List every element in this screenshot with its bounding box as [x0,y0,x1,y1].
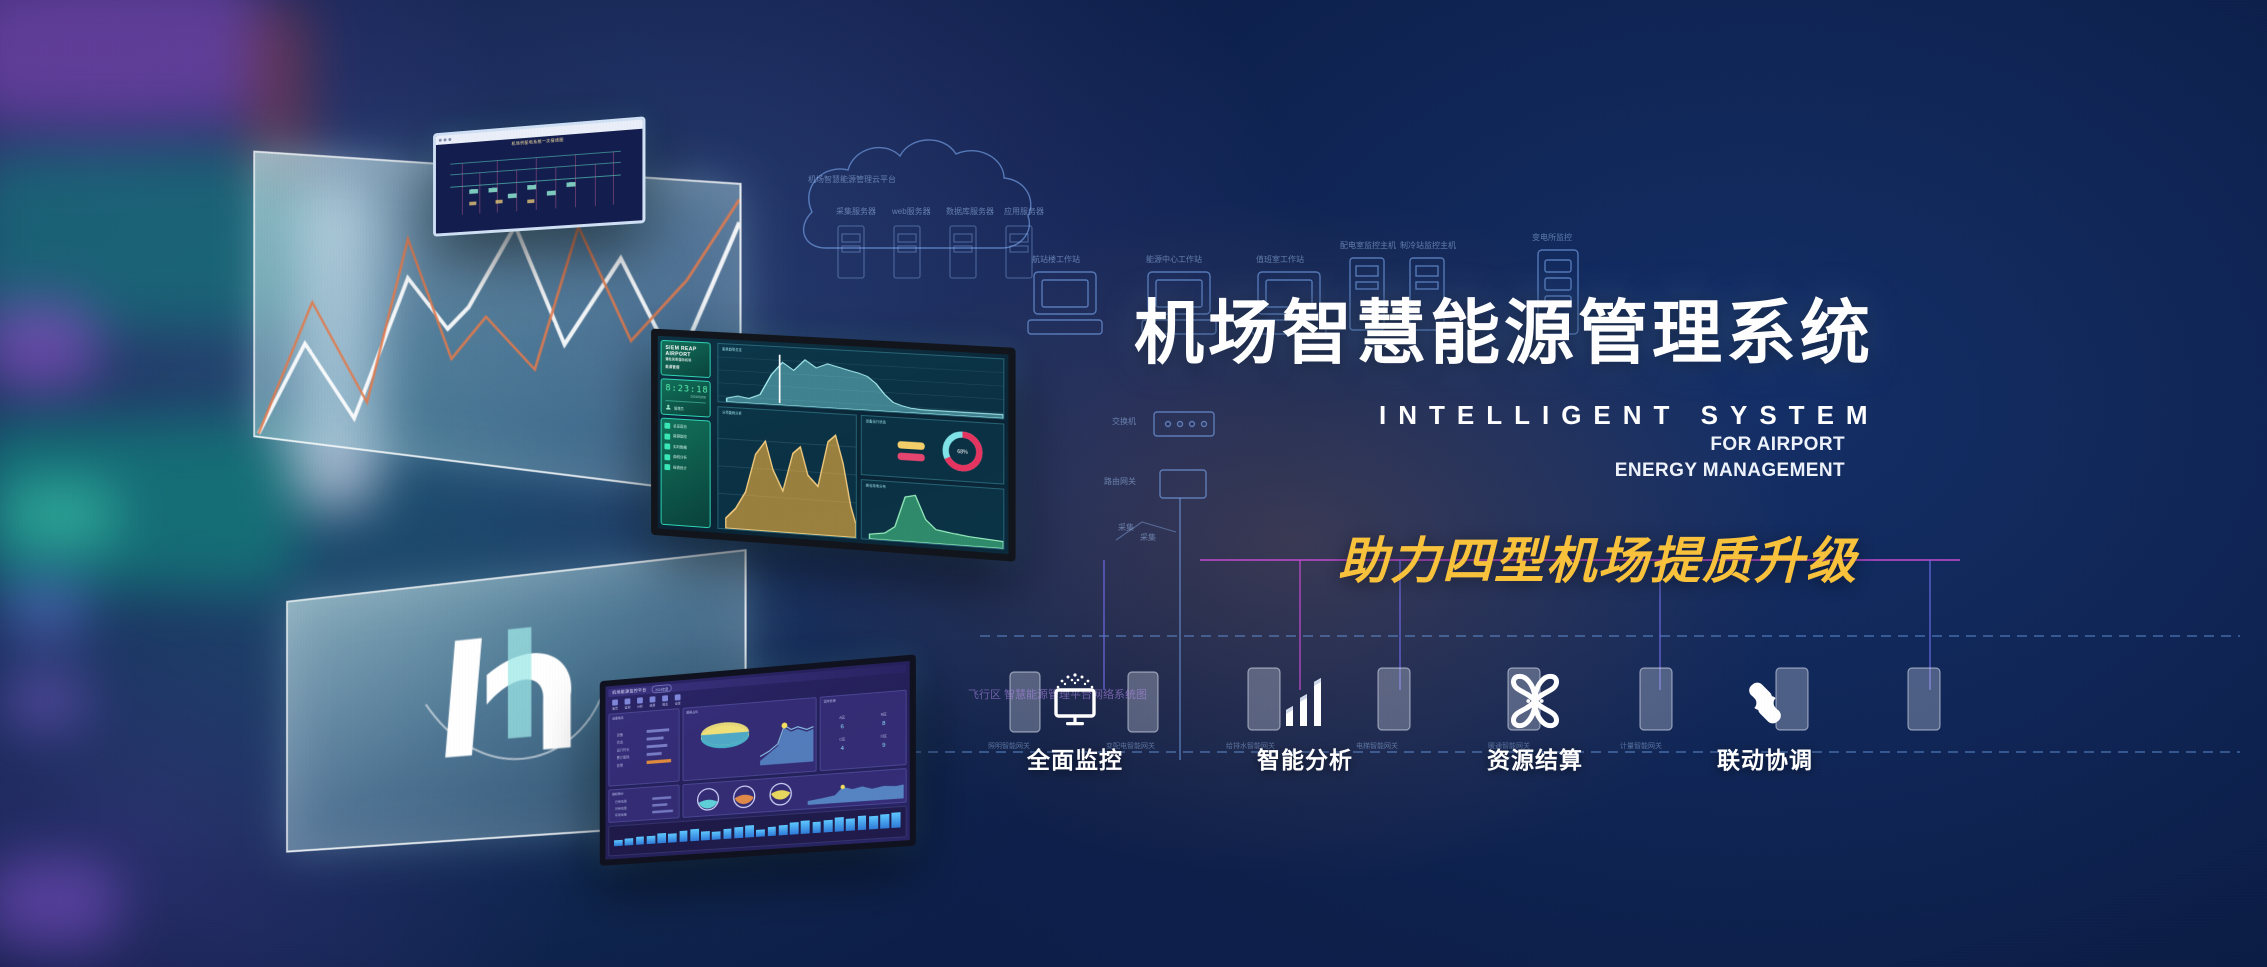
svg-text:采集服务器: 采集服务器 [836,206,876,216]
secondary-dashboard-screen[interactable]: 机场能源监控平台 2024年度 首页 监测 分析 结算 报表 设置 设备信息 设… [600,654,916,866]
svg-text:日用电量: 日用电量 [615,798,627,804]
svg-text:路由网关: 路由网关 [1104,476,1136,486]
chart-icon [664,454,670,460]
svg-text:交换机: 交换机 [1112,416,1136,426]
dashboard-sidebar[interactable]: SIEM REAP AIRPORT 暹粒吴哥国际机场 能源管理 8:23:18 … [658,336,714,533]
svg-text:应用服务器: 应用服务器 [1004,206,1044,216]
ld-card-ratio: 能耗占比 [683,697,817,781]
svg-text:数据库服务器: 数据库服务器 [946,206,994,216]
svg-text:航站楼工作站: 航站楼工作站 [1032,254,1080,264]
area-chart-itemized [718,407,855,538]
feature-item-monitor[interactable]: 全面监控 [960,672,1190,775]
link-diamonds-icon [1735,672,1795,730]
schematic-screen: 机场供配电系统一次接线图 [433,116,645,236]
nav-icon-1 [625,698,631,704]
feature-label-3: 联动协调 [1717,741,1813,775]
svg-text:机场智慧能源管理云平台: 机场智慧能源管理云平台 [808,174,896,184]
dashboard-body: 能耗趋势总览 分项能耗分析 设备运行状态 [714,339,1009,554]
panel-peak-valley: 峰谷用电分布 [861,479,1005,550]
feature-label-2: 资源结算 [1487,741,1583,775]
svg-text:能源中心工作站: 能源中心工作站 [1146,254,1202,264]
airport-logo-card: SIEM REAP AIRPORT 暹粒吴哥国际机场 能源管理 [661,340,711,378]
slogan: 助力四型机场提质升级 [1338,521,1858,593]
svg-text:告警: 告警 [617,762,624,768]
dashboard-menu[interactable]: 总览首页 能源监控 实时数据 曲线分析 报表统计 [661,417,711,528]
ld-nav-0[interactable]: 首页 [612,699,618,710]
feature-item-coordination[interactable]: 联动协调 [1650,672,1880,775]
bar-chart-icon [1276,672,1334,730]
menu-label-1: 能源监控 [673,434,687,440]
menu-item-3[interactable]: 曲线分析 [664,454,706,463]
menu-item-4[interactable]: 报表统计 [664,464,706,473]
feature-label-0: 全面监控 [1027,741,1123,775]
ld-cap-3: 指标统计 [612,791,624,796]
logo-line3: 暹粒吴哥国际机场 [665,357,705,363]
svg-text:4: 4 [841,746,845,752]
svg-text:累计能耗: 累计能耗 [617,754,630,760]
svg-text:8: 8 [882,721,885,727]
nav-icon-5 [675,694,681,700]
svg-text:68%: 68% [957,449,968,456]
nav-icon-0 [612,699,618,705]
ld-nav-2[interactable]: 分析 [637,697,643,708]
menu-item-0[interactable]: 总览首页 [664,423,706,432]
nav-icon-4 [662,695,668,701]
svg-text:B区: B区 [881,712,887,717]
svg-text:9: 9 [882,743,885,749]
user-label: 管理员 [674,405,684,411]
banner-hero: .wf{fill:none;stroke:#7aa8ef;stroke-widt… [0,0,2267,967]
svg-text:月用电量: 月用电量 [615,805,627,811]
svg-text:A区: A区 [839,715,845,720]
logo-sub: 能源管理 [665,365,705,372]
panel-caption-0: 能耗趋势总览 [722,346,742,352]
menu-label-0: 总览首页 [673,424,687,430]
four-petal-icon [1506,672,1564,730]
main-dashboard-screen[interactable]: SIEM REAP AIRPORT 暹粒吴哥国际机场 能源管理 8:23:18 … [651,329,1016,562]
svg-text:变电所监控: 变电所监控 [1532,232,1572,242]
ld-card-device: 设备信息 设备状态运行时长累计能耗告警 [608,708,679,787]
grid-icon [664,433,670,439]
feature-item-analysis[interactable]: 智能分析 [1190,672,1420,775]
feature-label-1: 智能分析 [1257,741,1353,775]
subtitle-en-line3: ENERGY MANAGEMENT [1615,460,1845,482]
page-title: 机场智慧能源管理系统 [1134,277,1874,378]
subtitle-en-line1: INTELLIGENT SYSTEM [1379,400,1880,431]
menu-item-2[interactable]: 实时数据 [664,443,706,452]
area-chart-energy-trend [718,344,1003,418]
monitor-icon [1044,672,1106,730]
svg-text:配电室监控主机: 配电室监控主机 [1340,240,1396,250]
clock-card: 8:23:18 2024/03/08 管理员 [661,378,711,417]
svg-text:状态: 状态 [617,739,624,745]
svg-text:6: 6 [841,724,844,730]
panel-itemized-energy: 分项能耗分析 [717,406,856,539]
report-icon [664,464,670,470]
user-icon [665,404,671,410]
svg-text:制冷站监控主机: 制冷站监控主机 [1400,240,1456,250]
svg-text:采集: 采集 [1140,532,1156,542]
menu-label-2: 实时数据 [673,444,687,450]
ld-nav-5[interactable]: 设置 [675,694,681,705]
ld-card-index: 指标统计 日用电量月用电量年用电量 [608,784,679,823]
feature-list: 全面监控 智能分析 [960,672,1880,775]
donut-chart-device-status: 68% [862,416,1003,484]
ld-title: 机场能源监控平台 [612,687,646,696]
svg-text:采集: 采集 [1118,522,1134,532]
nav-icon-2 [637,697,643,703]
ld-nav-4[interactable]: 报表 [662,695,668,706]
pie-chart-energy-ratio [683,698,815,780]
svg-text:C区: C区 [839,737,846,742]
svg-text:年用电量: 年用电量 [615,812,627,818]
panel-device-status: 设备运行状态 68% [861,415,1005,485]
svg-text:值班室工作站: 值班室工作站 [1256,254,1304,264]
feature-item-settlement[interactable]: 资源结算 [1420,672,1650,775]
ld-pill[interactable]: 2024年度 [651,684,672,694]
area-chart-peak-valley [862,480,1003,548]
ld-card-load: 实时负荷 A区B区C区D区 6849 [820,690,907,772]
svg-text:运行时长: 运行时长 [617,747,630,753]
svg-text:设备: 设备 [617,732,624,738]
subtitle-en-line2: FOR AIRPORT [1710,434,1845,456]
svg-text:D区: D区 [881,734,888,739]
menu-item-1[interactable]: 能源监控 [664,433,706,442]
home-icon [664,423,670,429]
menu-label-3: 曲线分析 [673,455,687,461]
nav-icon-3 [650,696,656,702]
svg-text:web服务器: web服务器 [891,206,931,216]
user-row[interactable]: 管理员 [665,400,705,412]
menu-label-4: 报表统计 [673,465,687,471]
ld-nav-3[interactable]: 结算 [650,696,656,707]
data-icon [664,443,670,449]
ld-nav-1[interactable]: 监测 [625,698,631,709]
